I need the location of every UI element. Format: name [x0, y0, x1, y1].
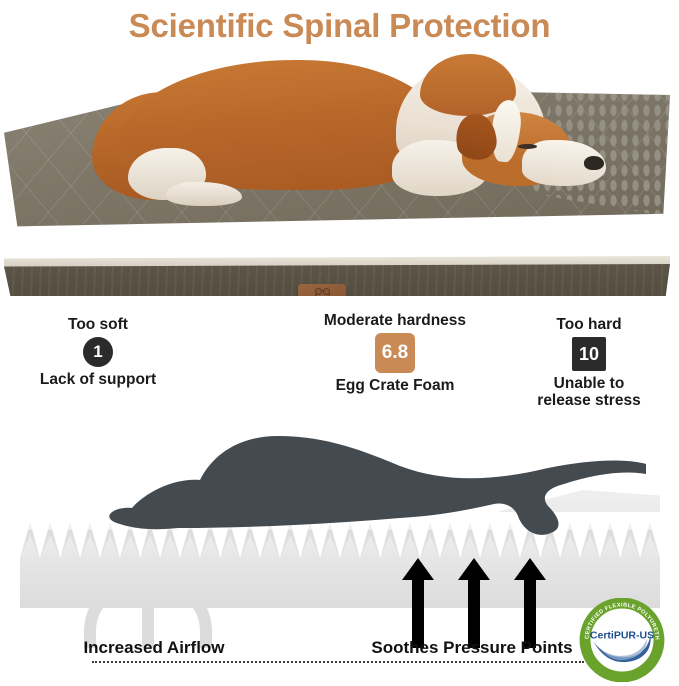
scale-node-top-label: Too hard [556, 316, 621, 334]
hardness-scale: Too soft 1 Lack of support Moderate hard… [0, 308, 679, 412]
page-title: Scientific Spinal Protection [0, 0, 679, 52]
scale-node-bottom-label: Unable to release stress [537, 375, 640, 410]
scale-node-too-hard: Too hard 10 Unable to release stress [500, 316, 678, 410]
scale-node-bottom-label: Egg Crate Foam [336, 377, 455, 394]
pressure-arrow-2 [458, 558, 490, 648]
dog-nose [584, 156, 604, 170]
scale-badge-10: 10 [572, 337, 606, 371]
scale-node-too-soft: Too soft 1 Lack of support [18, 316, 178, 388]
scale-badge-1: 1 [83, 337, 113, 367]
scale-node-bottom-label: Lack of support [40, 371, 156, 388]
scale-node-bottom-line-2: release stress [537, 392, 640, 409]
pressure-arrow-3 [514, 558, 546, 648]
scale-node-moderate: Moderate hardness 6.8 Egg Crate Foam [300, 312, 490, 394]
scale-badge-6-8: 6.8 [375, 333, 415, 373]
dog-silhouette-shape [109, 436, 646, 535]
scale-node-bottom-line-1: Unable to [537, 375, 640, 392]
certipur-wordmark: CertiPUR-US [590, 629, 654, 641]
scale-node-top-label: Too soft [68, 316, 128, 334]
dog-face-logo-icon [315, 290, 330, 297]
pressure-arrows-group [396, 558, 556, 648]
caption-soothes-pressure-points: Soothes Pressure Points [352, 638, 592, 658]
dog-eye [518, 144, 537, 149]
pressure-arrow-1 [402, 558, 434, 648]
dog-silhouette [28, 418, 652, 548]
caption-increased-airflow: Increased Airflow [44, 638, 264, 658]
scale-node-top-label: Moderate hardness [324, 312, 466, 330]
hero-product-photo: WoofRoom [0, 48, 679, 296]
certipur-us-seal: CONTAINS CERTIFIED FLEXIBLE POLYURETHANE… [578, 598, 666, 682]
brand-patch: WoofRoom [298, 284, 346, 296]
